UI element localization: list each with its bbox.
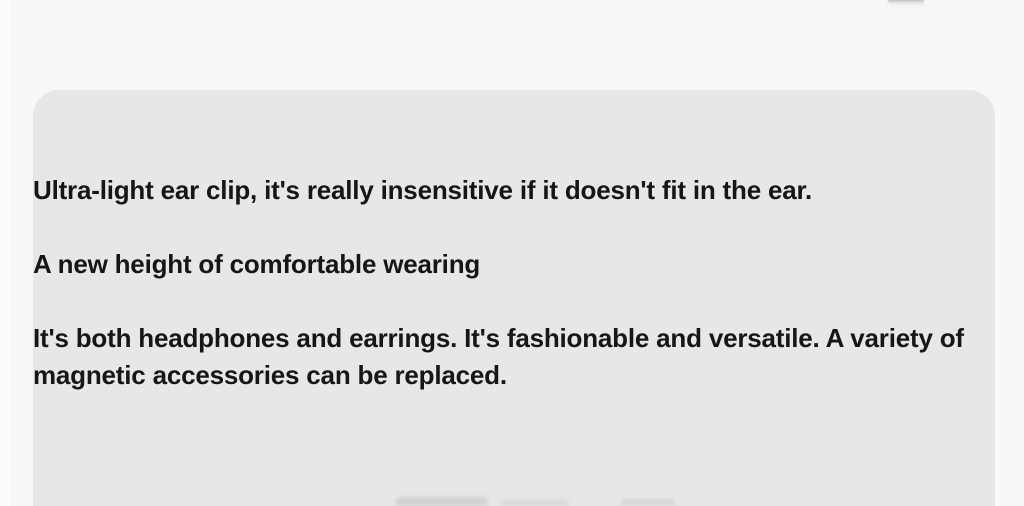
peek-shape xyxy=(396,497,488,506)
description-card-body: Ultra-light ear clip, it's really insens… xyxy=(33,90,995,394)
peek-shape xyxy=(621,499,675,506)
clipped-content-fragment-above xyxy=(888,0,924,8)
below-fold-image-peek xyxy=(33,492,995,506)
page-viewport: Ultra-light ear clip, it's really insens… xyxy=(0,0,1024,506)
description-paragraph: Ultra-light ear clip, it's really insens… xyxy=(33,172,971,209)
product-description-card: Ultra-light ear clip, it's really insens… xyxy=(33,90,995,506)
description-paragraph: A new height of comfortable wearing xyxy=(33,246,971,283)
description-paragraph: It's both headphones and earrings. It's … xyxy=(33,320,971,394)
peek-shape xyxy=(501,500,569,506)
left-viewport-gutter xyxy=(0,0,12,506)
